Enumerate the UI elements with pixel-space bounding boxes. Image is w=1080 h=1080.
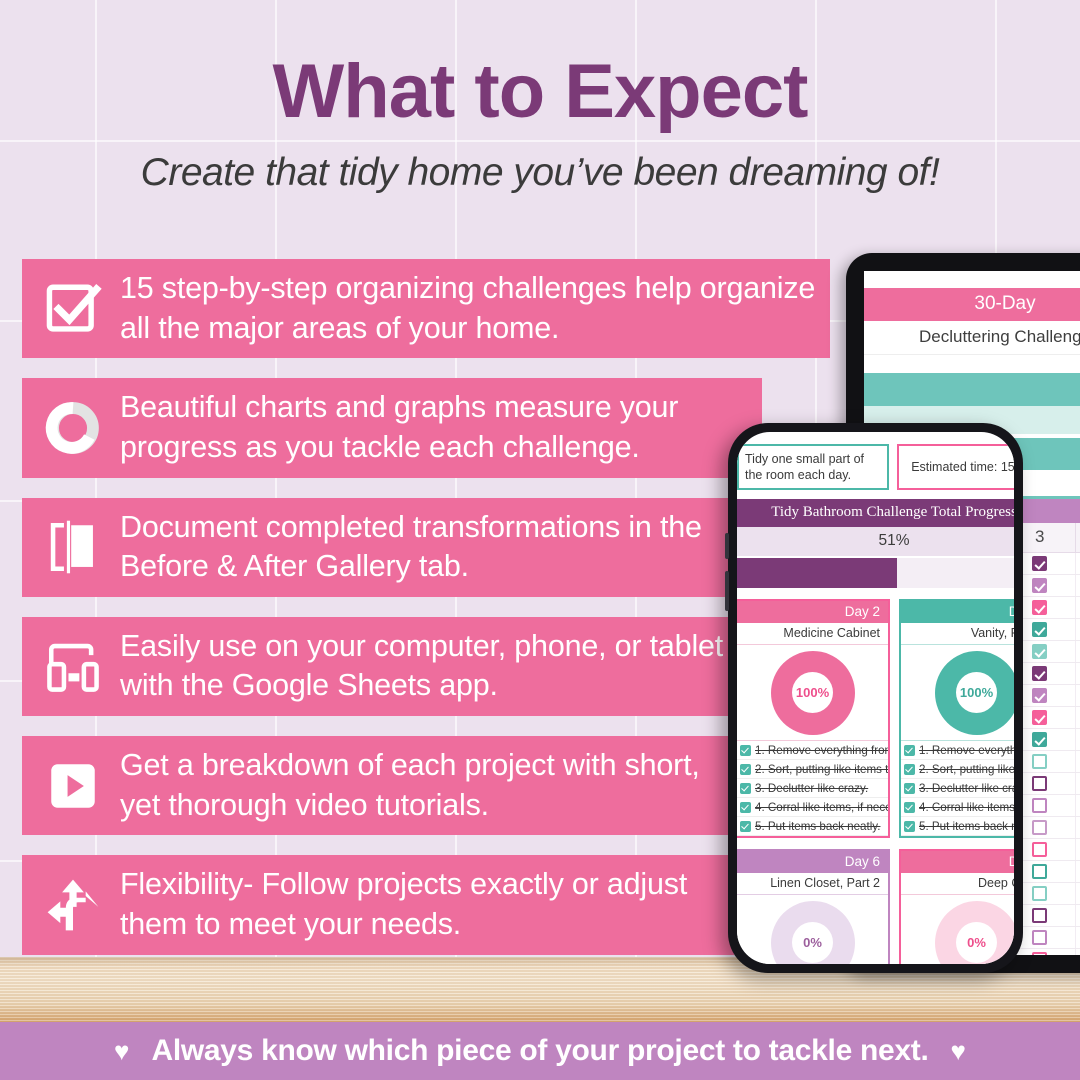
checklist-item-label: 4. Corral like items, if necessary. (919, 801, 1014, 814)
checkbox-checked-icon[interactable] (904, 821, 915, 832)
checkbox-checked-icon[interactable] (740, 764, 751, 775)
header-block: What to Expect Create that tidy home you… (0, 0, 1080, 195)
checklist-item[interactable]: 3. Declutter like crazy. (737, 779, 888, 798)
feature-text: Document completed transformations in th… (120, 508, 740, 587)
feature-row-4: Easily use on your computer, phone, or t… (22, 617, 734, 716)
donut-percent-label: 0% (967, 935, 986, 950)
feature-list: 15 step-by-step organizing challenges he… (22, 259, 830, 975)
heart-right-icon: ♥ (951, 1036, 966, 1067)
checkbox-empty-icon[interactable] (1032, 864, 1047, 879)
checkbox-empty-icon[interactable] (1032, 842, 1047, 857)
day-card-donut-wrap: 0% (737, 895, 888, 964)
checkbox-empty-icon[interactable] (1032, 930, 1047, 945)
checklist-item[interactable]: 1. Remove everything from space. (737, 741, 888, 760)
checkbox-grid-cell[interactable] (1076, 597, 1080, 618)
checklist-item-label: 5. Put items back neatly. (755, 820, 880, 833)
checkbox-checked-icon[interactable] (904, 802, 915, 813)
three-way-arrow-icon (36, 876, 110, 934)
feature-text: Easily use on your computer, phone, or t… (120, 627, 734, 706)
progress-donut-chart: 100% (771, 651, 855, 735)
feature-text: 15 step-by-step organizing challenges he… (120, 269, 830, 348)
checkbox-empty-icon[interactable] (1032, 886, 1047, 901)
feature-row-1: 15 step-by-step organizing challenges he… (22, 259, 830, 358)
checklist-item-label: 1. Remove everything from space. (755, 744, 888, 757)
checkbox-checked-icon[interactable] (1032, 600, 1047, 615)
progress-donut-chart: 0% (935, 901, 1015, 965)
feature-text: Get a breakdown of each project with sho… (120, 746, 734, 825)
checkbox-empty-icon[interactable] (1032, 776, 1047, 791)
checklist-item-label: 3. Declutter like crazy. (919, 782, 1014, 795)
day-card-checklist: 1. Remove everything from space.2. Sort,… (737, 741, 888, 836)
day-card[interactable]: Day 2Medicine Cabinet100%1. Remove every… (737, 599, 890, 838)
checkbox-grid-cell[interactable] (1076, 641, 1080, 662)
day-card[interactable]: Day 3Vanity, Part 1100%1. Remove everyth… (899, 599, 1014, 838)
checkbox-grid-cell[interactable] (1076, 729, 1080, 750)
heart-left-icon: ♥ (114, 1036, 129, 1067)
checkbox-checked-icon[interactable] (1032, 644, 1047, 659)
checkbox-grid-cell[interactable] (1076, 817, 1080, 838)
day-card-subtitle: Medicine Cabinet (737, 623, 888, 645)
checkbox-checked-icon[interactable] (904, 764, 915, 775)
checkbox-checked-icon[interactable] (1032, 710, 1047, 725)
checklist-item-label: 4. Corral like items, if necessary. (755, 801, 888, 814)
phone-note-row: Tidy one small part of the room each day… (737, 432, 1014, 490)
checkbox-grid-cell[interactable] (1076, 883, 1080, 904)
checkbox-checked-icon[interactable] (740, 821, 751, 832)
checklist-item-label: 5. Put items back neatly. (919, 820, 1014, 833)
day-card-header: Day 7 (901, 851, 1014, 873)
phone-screen: Tidy one small part of the room each day… (737, 432, 1014, 964)
estimated-time-note: Estimated time: 15-30 (897, 444, 1014, 490)
checkbox-checked-icon[interactable] (1032, 556, 1047, 571)
day-card-donut-wrap: 100% (901, 645, 1014, 741)
checkbox-empty-icon[interactable] (1032, 798, 1047, 813)
day-card-subtitle: Linen Closet, Part 2 (737, 873, 888, 895)
phone-volume-up-button[interactable] (725, 533, 729, 559)
checkbox-checked-icon[interactable] (740, 783, 751, 794)
checkbox-grid-cell[interactable] (1076, 949, 1080, 955)
checkbox-grid-cell[interactable] (1076, 707, 1080, 728)
checkbox-checked-icon[interactable] (740, 802, 751, 813)
donut-percent-label: 0% (803, 935, 822, 950)
phone-volume-down-button[interactable] (725, 571, 729, 611)
day-card-header: Day 6 (737, 851, 888, 873)
checklist-item[interactable]: 5. Put items back neatly. (737, 817, 888, 836)
checkbox-grid-cell[interactable] (1076, 619, 1080, 640)
total-progress-bar-track (737, 558, 1014, 588)
feature-text: Beautiful charts and graphs measure your… (120, 388, 762, 467)
checkbox-empty-icon[interactable] (1032, 820, 1047, 835)
checkbox-checked-icon[interactable] (1032, 578, 1047, 593)
checkbox-empty-icon[interactable] (1032, 952, 1047, 955)
checkbox-checked-icon (36, 280, 110, 338)
checkbox-grid-cell[interactable] (1076, 927, 1080, 948)
bottom-banner: ♥ Always know which piece of your projec… (0, 1022, 1080, 1080)
checkbox-grid-cell[interactable] (1076, 553, 1080, 574)
checkbox-checked-icon[interactable] (1032, 622, 1047, 637)
checklist-item-label: 2. Sort, putting like items together. (755, 763, 888, 776)
day-card[interactable]: Day 6Linen Closet, Part 20% (737, 849, 890, 964)
checklist-item-label: 3. Declutter like crazy. (755, 782, 868, 795)
progress-donut-chart: 0% (771, 901, 855, 965)
checkbox-grid-cell[interactable] (1076, 575, 1080, 596)
day-card-checklist: 1. Remove everything from space.2. Sort,… (901, 741, 1014, 836)
checklist-item[interactable]: 5. Put items back neatly. (901, 817, 1014, 836)
checkbox-checked-icon[interactable] (740, 745, 751, 756)
checkbox-checked-icon[interactable] (904, 783, 915, 794)
checkbox-checked-icon[interactable] (1032, 688, 1047, 703)
page-subtitle: Create that tidy home you’ve been dreami… (0, 151, 1080, 195)
checklist-item-label: 2. Sort, putting like items together. (919, 763, 1014, 776)
total-progress-bar-fill (737, 558, 897, 588)
checkbox-grid-cell[interactable] (1076, 663, 1080, 684)
checkbox-grid-cell[interactable] (1076, 795, 1080, 816)
checkbox-checked-icon[interactable] (1032, 732, 1047, 747)
checkbox-checked-icon[interactable] (904, 745, 915, 756)
page-title: What to Expect (0, 48, 1080, 135)
play-video-icon (36, 757, 110, 815)
checkbox-checked-icon[interactable] (1032, 666, 1047, 681)
checklist-item[interactable]: 1. Remove everything from space. (901, 741, 1014, 760)
checklist-item[interactable]: 3. Declutter like crazy. (901, 779, 1014, 798)
day-card-donut-wrap: 0% (901, 895, 1014, 964)
day-card-subtitle: Deep Clean (901, 873, 1014, 895)
checkbox-grid-cell[interactable] (1076, 861, 1080, 882)
checklist-item[interactable]: 2. Sort, putting like items together. (901, 760, 1014, 779)
tablet-band (864, 373, 1080, 406)
day-cards-row-bottom: Day 6Linen Closet, Part 20%Day 7Deep Cle… (737, 838, 1014, 964)
donut-percent-label: 100% (960, 685, 993, 700)
checkbox-grid-cell[interactable] (1076, 839, 1080, 860)
feature-row-3: Document completed transformations in th… (22, 498, 740, 597)
day-card-subtitle: Vanity, Part 1 (901, 623, 1014, 645)
day-card-header: Day 3 (901, 601, 1014, 623)
day-card-header: Day 2 (737, 601, 888, 623)
day-card-donut-wrap: 100% (737, 645, 888, 741)
donut-chart-icon (36, 399, 110, 457)
day-cards-row-top: Day 2Medicine Cabinet100%1. Remove every… (737, 588, 1014, 838)
poster-canvas: 30-Day Decluttering Challenge 1234 Tidy … (0, 0, 1080, 1080)
checkbox-grid-cell[interactable] (1076, 773, 1080, 794)
checkbox-grid-cell[interactable] (1076, 751, 1080, 772)
checkbox-grid-col-header-4: 4 (1076, 523, 1080, 552)
phone-mockup: Tidy one small part of the room each day… (728, 423, 1023, 973)
before-after-gallery-icon (36, 518, 110, 576)
feature-text: Flexibility- Follow projects exactly or … (120, 865, 734, 944)
progress-donut-chart: 100% (935, 651, 1015, 735)
checklist-item[interactable]: 4. Corral like items, if necessary. (901, 798, 1014, 817)
banner-text: Always know which piece of your project … (151, 1034, 928, 1068)
checkbox-grid-cell[interactable] (1076, 685, 1080, 706)
total-progress-percent: 51% (737, 527, 1014, 556)
day-card[interactable]: Day 7Deep Clean0% (899, 849, 1014, 964)
feature-row-2: Beautiful charts and graphs measure your… (22, 378, 762, 477)
tablet-header-subtitle: Decluttering Challenge (864, 321, 1080, 355)
checkbox-grid-cell[interactable] (1076, 905, 1080, 926)
donut-percent-label: 100% (796, 685, 829, 700)
checkbox-empty-icon[interactable] (1032, 908, 1047, 923)
multi-device-icon (36, 637, 110, 695)
checklist-item[interactable]: 2. Sort, putting like items together. (737, 760, 888, 779)
checklist-item-label: 1. Remove everything from space. (919, 744, 1014, 757)
checkbox-empty-icon[interactable] (1032, 754, 1047, 769)
tip-note-teal: Tidy one small part of the room each day… (737, 444, 889, 490)
feature-row-5: Get a breakdown of each project with sho… (22, 736, 734, 835)
tablet-header-title: 30-Day (864, 288, 1080, 321)
checklist-item[interactable]: 4. Corral like items, if necessary. (737, 798, 888, 817)
total-progress-title: Tidy Bathroom Challenge Total Progress (737, 499, 1014, 527)
feature-row-6: Flexibility- Follow projects exactly or … (22, 855, 734, 954)
